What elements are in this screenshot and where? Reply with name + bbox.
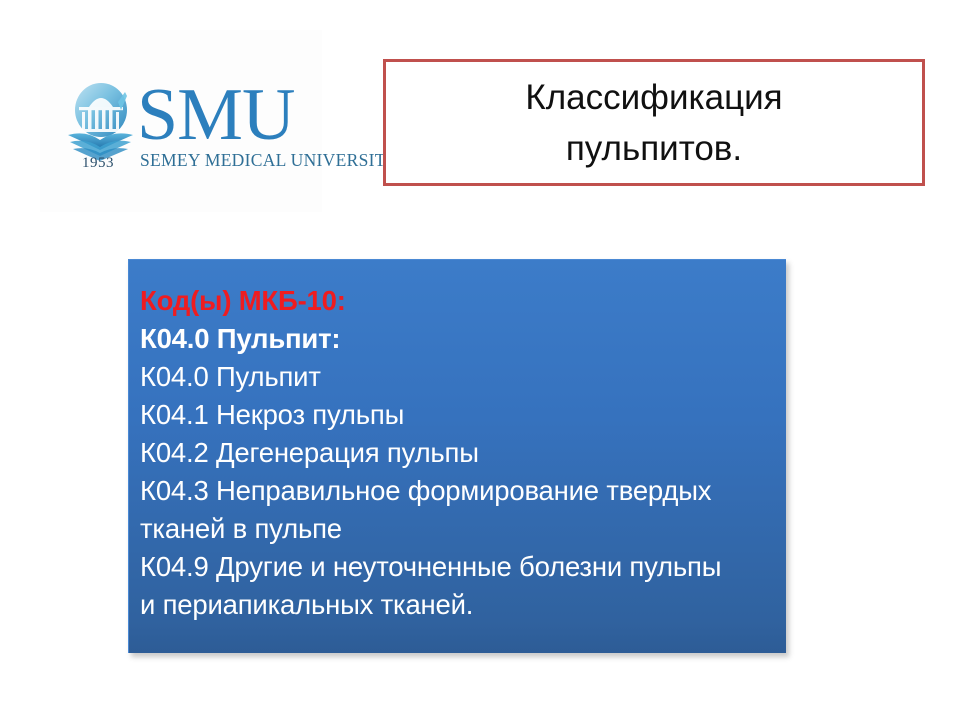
- dome-and-open-book-icon: [62, 80, 140, 162]
- icd-code-content-box: Код(ы) МКБ-10: К04.0 Пульпит: К04.0 Пуль…: [128, 259, 786, 653]
- content-line: тканей в пульпе: [140, 510, 768, 548]
- smu-wordmark: SMU: [137, 78, 294, 152]
- content-line: К04.0 Пульпит:: [140, 320, 768, 358]
- content-line: К04.2 Дегенерация пульпы: [140, 434, 768, 472]
- content-line: К04.9 Другие и неуточненные болезни пуль…: [140, 548, 768, 586]
- content-line: Код(ы) МКБ-10:: [140, 282, 768, 320]
- content-line: и периапикальных тканей.: [140, 586, 768, 624]
- content-line: К04.0 Пульпит: [140, 358, 768, 396]
- slide-canvas: SMU SEMEY MEDICAL UNIVERSITY 1953 Класси…: [0, 0, 960, 720]
- smu-founding-year: 1953: [82, 154, 114, 172]
- smu-logo-block: SMU SEMEY MEDICAL UNIVERSITY 1953: [40, 30, 322, 212]
- title-line-1: Классификация: [525, 78, 782, 117]
- smu-logo-image: SMU SEMEY MEDICAL UNIVERSITY 1953: [40, 30, 322, 212]
- slide-title-box: Классификация пульпитов.: [383, 59, 925, 186]
- page-title: Классификация пульпитов.: [525, 72, 782, 174]
- title-line-2: пульпитов.: [566, 129, 742, 168]
- content-line: К04.1 Некроз пульпы: [140, 396, 768, 434]
- content-line: К04.3 Неправильное формирование твердых: [140, 472, 768, 510]
- smu-subtitle: SEMEY MEDICAL UNIVERSITY: [140, 150, 399, 170]
